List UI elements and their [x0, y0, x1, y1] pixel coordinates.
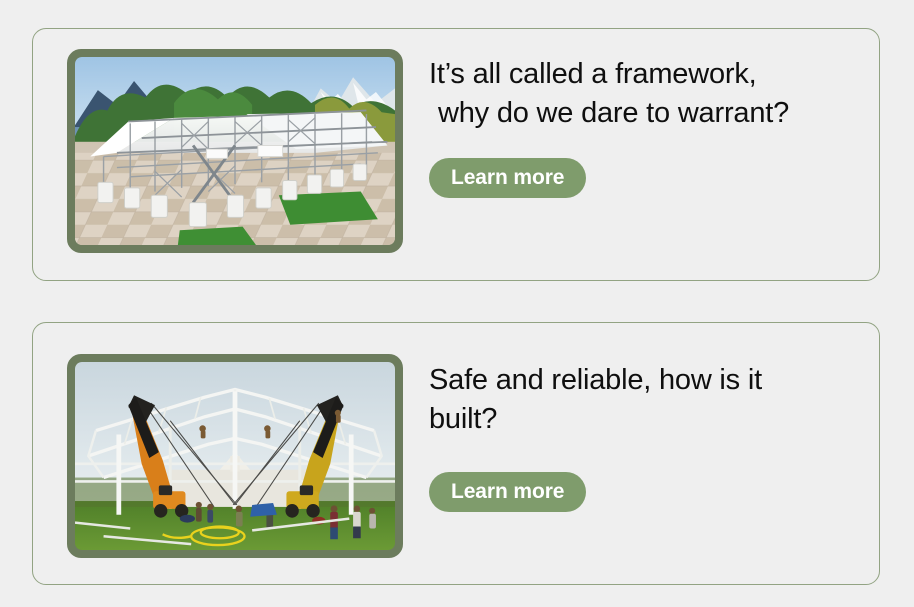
card-heading-line-2: built? — [429, 400, 859, 439]
card-heading-line-1: It’s all called a framework, — [429, 58, 757, 90]
card-heading-line-1: Safe and reliable, how is it — [429, 364, 762, 396]
card-heading: It’s all called a framework, why do we d… — [429, 55, 859, 132]
card-body: Safe and reliable, how is it built? Lear… — [403, 323, 879, 512]
card-heading: Safe and reliable, how is it built? — [429, 361, 859, 438]
tent-framework-render-graphic — [75, 57, 395, 245]
card-body: It’s all called a framework, why do we d… — [403, 29, 879, 198]
learn-more-button[interactable]: Learn more — [429, 158, 586, 198]
card-image-frame — [67, 354, 403, 558]
promo-card[interactable]: It’s all called a framework, why do we d… — [32, 28, 880, 281]
learn-more-button[interactable]: Learn more — [429, 472, 586, 512]
card-heading-line-2: why do we dare to warrant? — [429, 94, 859, 133]
tent-framework-render — [75, 57, 395, 245]
tent-construction-photo-graphic — [75, 362, 395, 550]
card-image-frame — [67, 49, 403, 253]
tent-construction-photo — [75, 362, 395, 550]
promo-cards-page: It’s all called a framework, why do we d… — [0, 0, 914, 607]
promo-card[interactable]: Safe and reliable, how is it built? Lear… — [32, 322, 880, 585]
